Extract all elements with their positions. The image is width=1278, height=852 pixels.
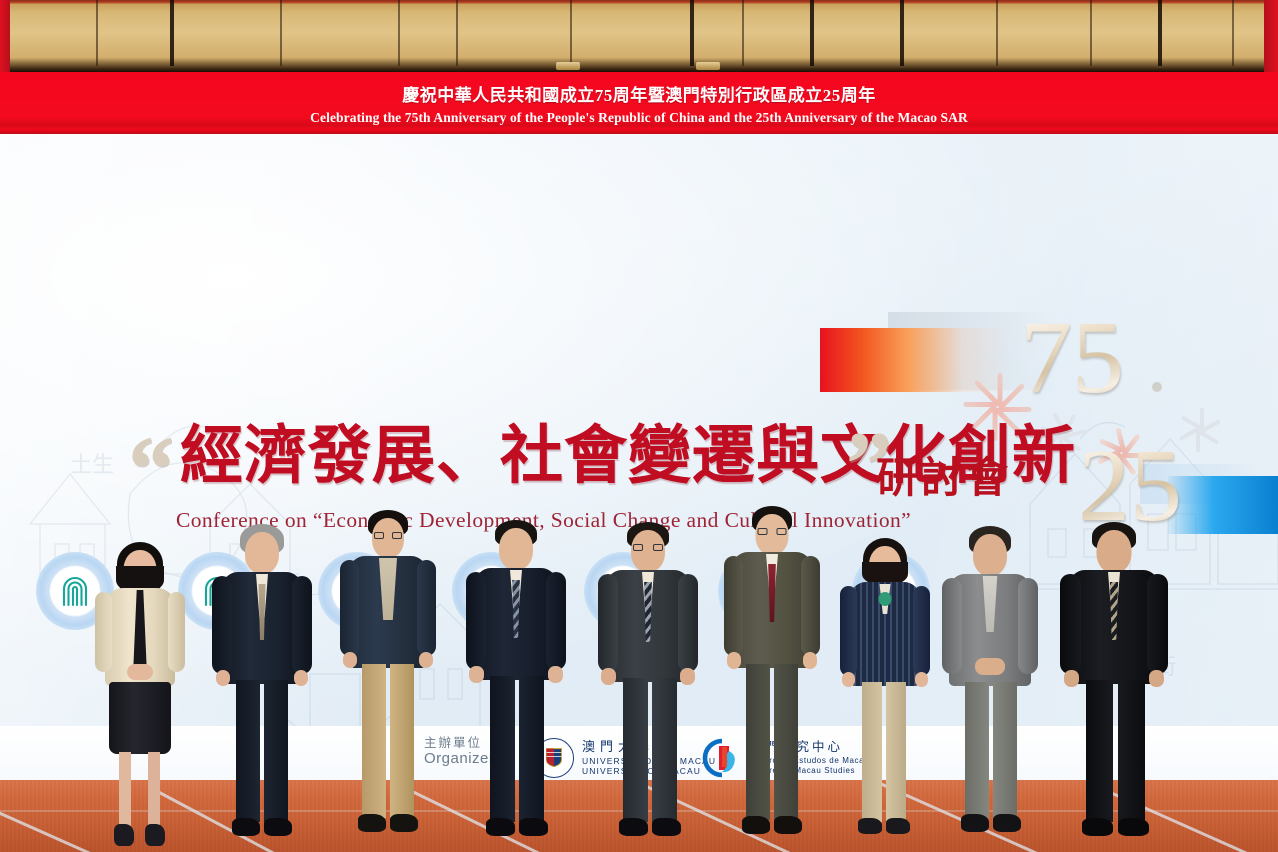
panel-seam — [1158, 0, 1162, 66]
wooden-ceiling — [0, 0, 1278, 72]
panel-seam — [280, 0, 282, 66]
necklace-pendant — [879, 592, 892, 606]
person-3 — [338, 510, 438, 852]
panel-seam — [996, 0, 998, 66]
conference-photo-stage: 慶祝中華人民共和國成立75周年暨澳門特別行政區成立25周年 Celebratin… — [0, 0, 1278, 852]
person-6 — [722, 506, 822, 852]
person-2 — [210, 522, 314, 852]
ceiling-right-edge — [1264, 0, 1278, 72]
quote-open-mark: “ — [128, 422, 174, 514]
glasses-icon — [633, 544, 663, 552]
svg-text:土生: 土生 — [70, 452, 114, 477]
panel-seam — [810, 0, 814, 66]
ceiling-fixture — [696, 62, 720, 70]
panel-seam — [398, 0, 400, 66]
person-8 — [940, 524, 1040, 852]
panel-seam — [170, 0, 174, 66]
panel-seam — [456, 0, 458, 66]
panel-seam — [96, 0, 98, 66]
um-fingerprint-icon — [60, 575, 90, 607]
panel-seam — [742, 0, 744, 66]
person-9 — [1058, 518, 1170, 852]
anniversary-number-75: 75 — [1020, 306, 1124, 410]
ceiling-fixture — [556, 62, 580, 70]
person-1 — [92, 536, 188, 852]
panel-seam — [900, 0, 904, 66]
decorative-blue-gradient-block — [1168, 476, 1278, 534]
person-4 — [464, 516, 568, 852]
glasses-icon — [374, 532, 402, 540]
panel-seam — [570, 0, 572, 66]
person-7 — [838, 534, 932, 852]
person-5 — [596, 518, 700, 852]
banner-title-chinese: 慶祝中華人民共和國成立75周年暨澳門特別行政區成立25周年 — [402, 81, 876, 106]
panel-seam — [1232, 0, 1234, 66]
panel-seam — [1090, 0, 1092, 66]
panel-seam — [690, 0, 694, 66]
banner-title-english: Celebrating the 75th Anniversary of the … — [310, 110, 968, 126]
anniversary-banner: 慶祝中華人民共和國成立75周年暨澳門特別行政區成立25周年 Celebratin… — [0, 72, 1278, 134]
ceiling-left-edge — [0, 0, 10, 72]
glasses-icon — [758, 528, 787, 536]
anniversary-dot — [1152, 382, 1162, 392]
conference-title-suffix: 研討會 — [876, 444, 1011, 505]
